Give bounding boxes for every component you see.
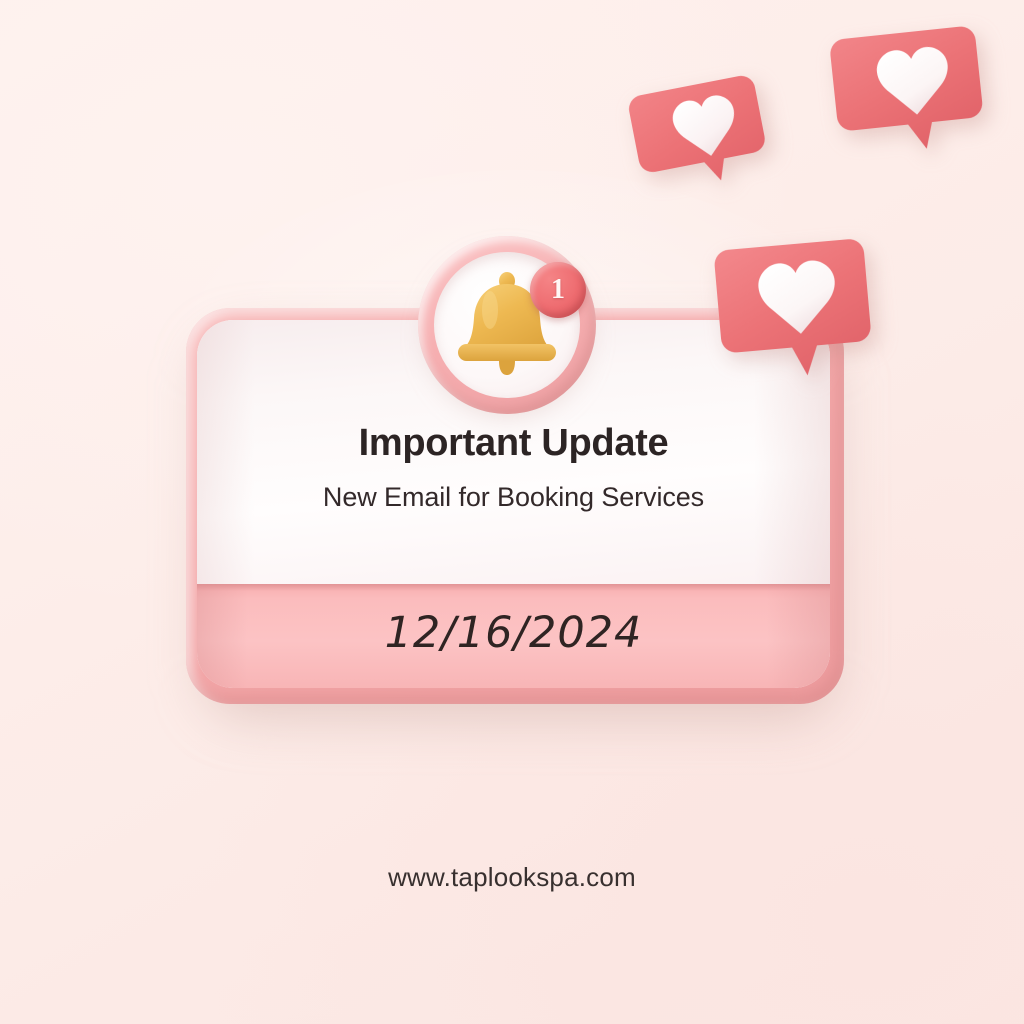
card-title: Important Update <box>359 424 669 462</box>
heart-bubble-top-right <box>825 14 999 175</box>
poster-canvas: Important Update New Email for Booking S… <box>0 0 1024 1024</box>
bell-medallion: 1 <box>418 236 596 414</box>
website-url[interactable]: www.taplookspa.com <box>0 862 1024 893</box>
card-date-row: 12/16/2024 <box>197 584 830 688</box>
card-date: 12/16/2024 <box>385 608 643 658</box>
notification-count-badge: 1 <box>530 262 586 318</box>
heart-bubble-top-left <box>622 60 783 209</box>
notification-count-label: 1 <box>551 276 565 304</box>
card-subtitle: New Email for Booking Services <box>323 484 704 511</box>
heart-bubble-card-right <box>707 225 886 399</box>
